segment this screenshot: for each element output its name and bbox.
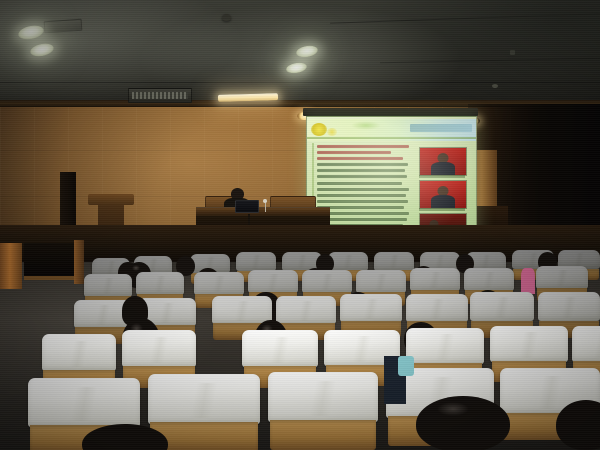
lecture-hall-photo [0,0,600,450]
microphone-stand [265,202,266,212]
ceiling [0,0,600,112]
downlight-1 [17,23,45,41]
seat[interactable] [268,372,378,450]
screen-roller-housing [303,108,478,116]
doorway-threshold [24,276,76,280]
downlight-4 [285,61,307,74]
downlight-2 [29,42,55,59]
smoke-detector [222,14,231,21]
ceiling-vent-center [128,88,192,103]
laptop[interactable] [235,200,259,213]
microphone-head [263,199,267,203]
audience-clothing-teal [398,356,414,376]
audience-person-foreground [82,424,168,450]
ceiling-vent-left [44,19,83,34]
screen-glow [307,117,476,242]
audience-clothing-pink [521,268,535,294]
audience-person-foreground [416,396,510,450]
screen-surface [306,116,477,243]
ceiling-seam-2 [330,13,600,23]
door-frame-left [74,240,84,284]
rear-doorway-left[interactable] [24,243,74,279]
ceiling-seam-1 [0,82,600,83]
ceiling-seam-3 [380,58,600,64]
sprinkler-head-right [510,50,515,55]
left-column [0,243,22,289]
downlight-3 [295,44,319,59]
lectern-top [88,194,134,205]
sprinkler-head-right-2 [492,84,498,88]
audience-person-foreground [556,400,600,450]
